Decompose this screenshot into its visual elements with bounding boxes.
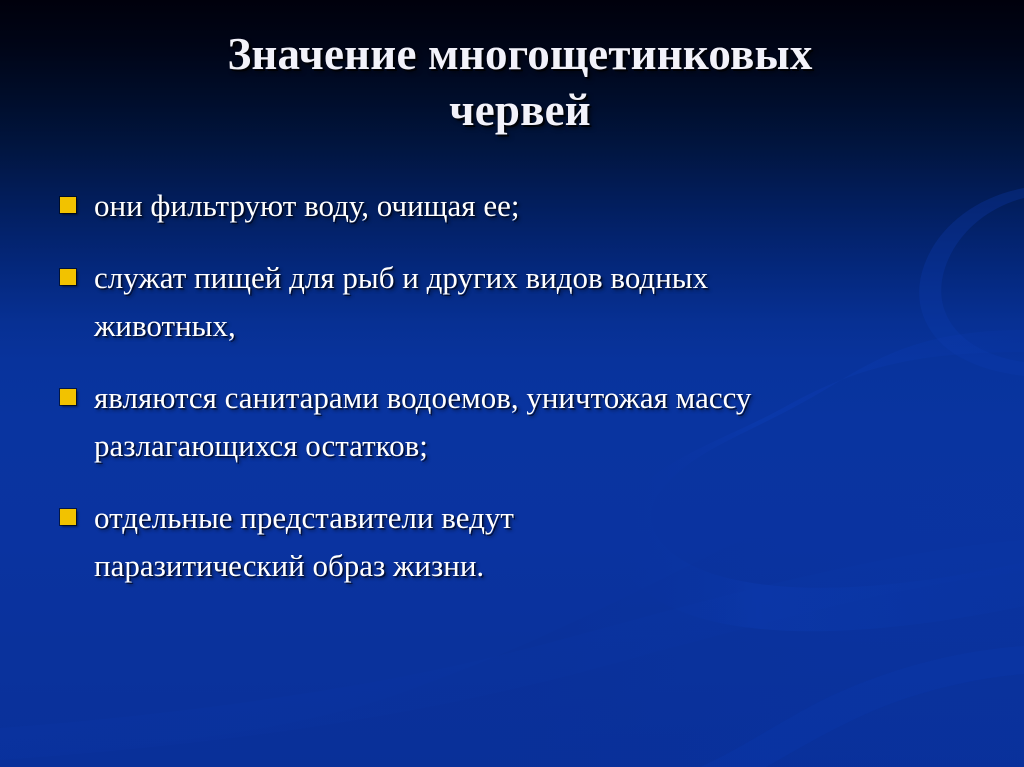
bullet-item-3: являются санитарами водоемов, уничтожая …	[60, 374, 960, 470]
presentation-slide: Значение многощетинковых червей они филь…	[0, 0, 1024, 767]
slide-title: Значение многощетинковых червей	[90, 26, 950, 138]
square-bullet-icon	[60, 197, 76, 213]
square-bullet-icon	[60, 509, 76, 525]
bullet-item-4-text: отдельные представители ведут паразитиче…	[94, 494, 694, 590]
bullet-item-2: служат пищей для рыб и других видов водн…	[60, 254, 960, 350]
bullet-item-2-text: служат пищей для рыб и других видов водн…	[94, 254, 814, 350]
square-bullet-icon	[60, 269, 76, 285]
bullet-item-1-text: они фильтруют воду, очищая ее;	[94, 182, 519, 230]
bullet-item-4: отдельные представители ведут паразитиче…	[60, 494, 960, 590]
slide-title-line-2: червей	[90, 82, 950, 138]
bullet-list: они фильтруют воду, очищая ее; служат пи…	[60, 182, 960, 614]
slide-title-line-1: Значение многощетинковых	[90, 26, 950, 82]
bullet-item-3-text: являются санитарами водоемов, уничтожая …	[94, 374, 914, 470]
bullet-item-1: они фильтруют воду, очищая ее;	[60, 182, 960, 230]
square-bullet-icon	[60, 389, 76, 405]
